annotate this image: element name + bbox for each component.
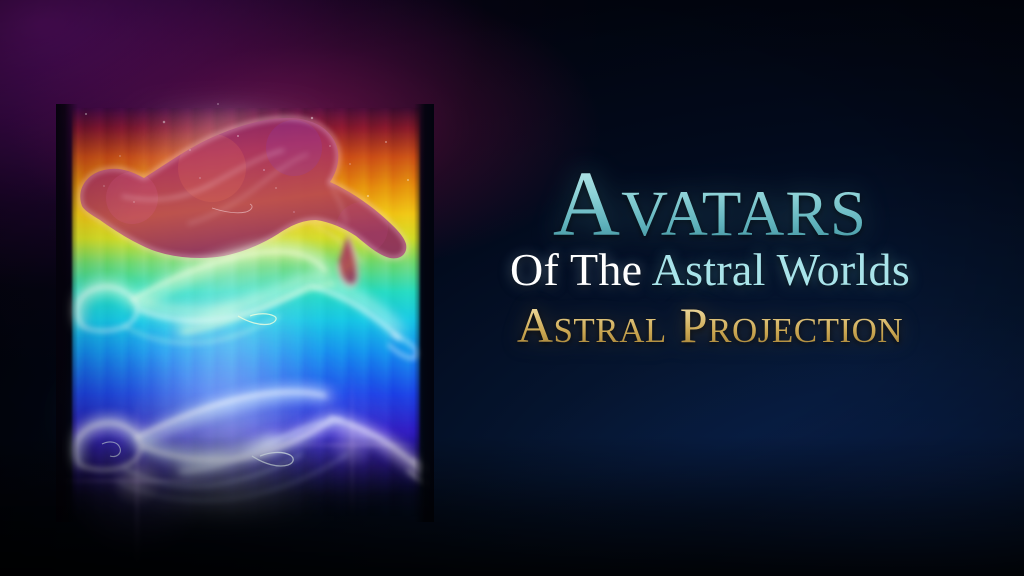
background-bottom-fade	[0, 436, 1024, 576]
title-block: Avatars Of The Astral Worlds Astral Proj…	[414, 160, 1006, 351]
tagline: Astral Projection	[414, 300, 1006, 351]
subtitle-prefix: Of The	[510, 244, 652, 295]
subtitle-line: Of The Astral Worlds	[414, 247, 1006, 294]
subtitle-emphasis: Astral Worlds	[652, 244, 910, 295]
poster-canvas: Avatars Of The Astral Worlds Astral Proj…	[0, 0, 1024, 576]
main-title: Avatars	[414, 160, 1006, 249]
